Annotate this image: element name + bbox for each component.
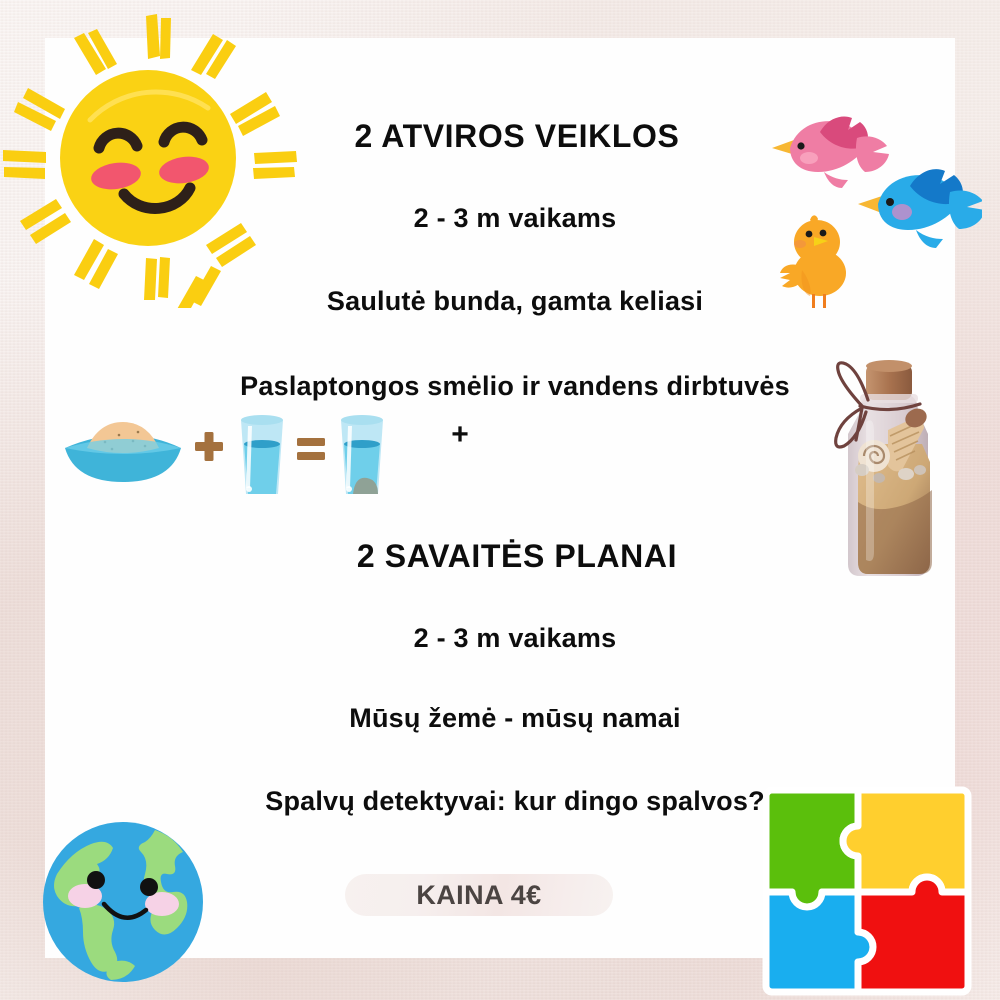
week-plans-age: 2 - 3 m vaikams [414, 623, 617, 654]
week-plans-item-2: Spalvų detektyvai: kur dingo spalvos? [265, 786, 765, 817]
plus-separator: + [451, 420, 469, 450]
poster-root: 2 ATVIROS VEIKLOS 2 - 3 m vaikams Saulut… [0, 0, 1000, 1000]
week-plans-title: 2 SAVAITĖS PLANAI [357, 538, 677, 575]
open-activities-age: 2 - 3 m vaikams [414, 203, 617, 234]
open-activities-item-1: Saulutė bunda, gamta keliasi [327, 286, 703, 317]
price-label: KAINA 4€ [416, 880, 541, 911]
open-activities-item-2: Paslaptongos smėlio ir vandens dirbtuvės [240, 371, 790, 402]
open-activities-title: 2 ATVIROS VEIKLOS [355, 118, 680, 155]
text-content-layer: 2 ATVIROS VEIKLOS 2 - 3 m vaikams Saulut… [45, 38, 955, 958]
price-badge: KAINA 4€ [345, 874, 613, 916]
week-plans-item-1: Mūsų žemė - mūsų namai [349, 703, 680, 734]
